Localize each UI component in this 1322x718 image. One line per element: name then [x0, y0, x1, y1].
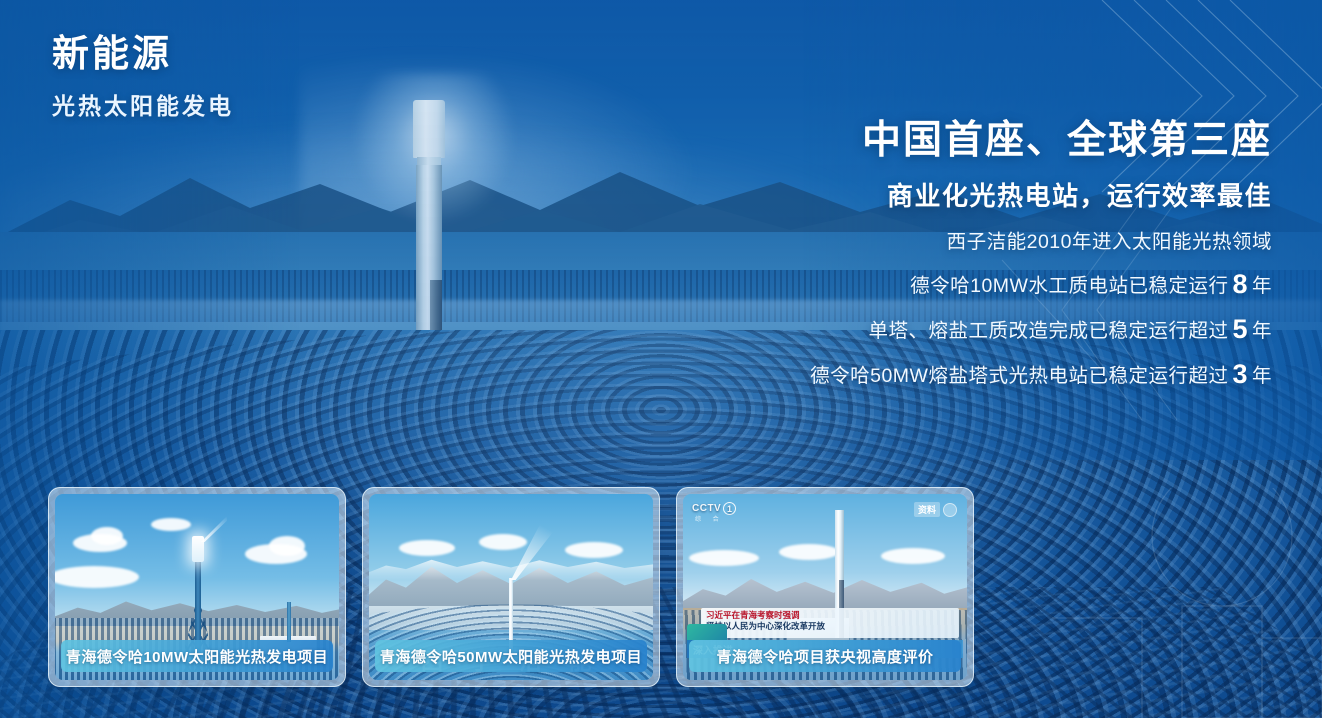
project-card-3[interactable]: CCTV 1 综 合 资料 习近平在青海考察时强调 坚持以人民为中心深化改革开放… — [676, 487, 974, 687]
slide-canvas: 新能源 光热太阳能发电 中国首座、全球第三座 商业化光热电站，运行效率最佳 西子… — [0, 0, 1322, 718]
archive-badge-circle — [943, 503, 957, 517]
project-photo-1: 青海德令哈10MW太阳能光热发电项目 — [55, 494, 339, 680]
archive-badge-label: 资料 — [914, 502, 940, 517]
page-subtitle: 光热太阳能发电 — [52, 87, 234, 121]
cctv-channel-number: 1 — [723, 502, 736, 515]
achievement-number-3: 5 — [1228, 314, 1252, 344]
achievement-text-1: 西子洁能2010年进入太阳能光热领域 — [947, 231, 1272, 253]
achievement-unit-3: 年 — [1252, 320, 1272, 342]
project-photo-2: 西 子 洁 能 青海德令哈50MW太阳能光热发电项目 — [369, 494, 653, 680]
cctv-channel-sub: 综 合 — [695, 514, 724, 523]
headline-secondary: 商业化光热电站，运行效率最佳 — [632, 176, 1272, 213]
achievement-text-4: 德令哈50MW熔盐塔式光热电站已稳定运行超过 — [810, 365, 1228, 387]
left-title-block: 新能源 光热太阳能发电 — [52, 34, 234, 121]
project-caption-2: 青海德令哈50MW太阳能光热发电项目 — [375, 640, 647, 672]
project-caption-1: 青海德令哈10MW太阳能光热发电项目 — [61, 640, 333, 672]
news-headline-line2: 坚持以人民为中心深化改革开放 — [706, 621, 954, 632]
photo1-receiver — [192, 536, 204, 562]
photo1-secondary-tower — [287, 602, 291, 642]
project-caption-3: 青海德令哈项目获央视高度评价 — [689, 640, 961, 672]
news-headline-bar: 习近平在青海考察时强调 坚持以人民为中心深化改革开放 — [701, 608, 959, 638]
achievement-text-2: 德令哈10MW水工质电站已稳定运行 — [910, 275, 1228, 297]
achievement-item-3: 单塔、熔盐工质改造完成已稳定运行超过5年 — [612, 316, 1272, 343]
cctv-channel-label: CCTV — [692, 503, 721, 514]
project-photo-gallery: 青海德令哈10MW太阳能光热发电项目 西 子 洁 能 青海德令哈50MW太阳能光… — [48, 487, 974, 687]
headline-block: 中国首座、全球第三座 商业化光热电站，运行效率最佳 — [632, 118, 1272, 213]
achievement-unit-4: 年 — [1252, 365, 1272, 387]
achievement-item-1: 西子洁能2010年进入太阳能光热领域 — [612, 233, 1272, 253]
project-card-1[interactable]: 青海德令哈10MW太阳能光热发电项目 — [48, 487, 346, 687]
achievement-list: 西子洁能2010年进入太阳能光热领域 德令哈10MW水工质电站已稳定运行8年 单… — [612, 233, 1272, 406]
achievement-number-2: 8 — [1228, 269, 1252, 299]
achievement-item-2: 德令哈10MW水工质电站已稳定运行8年 — [612, 271, 1272, 298]
achievement-number-4: 3 — [1228, 359, 1252, 389]
project-photo-3: CCTV 1 综 合 资料 习近平在青海考察时强调 坚持以人民为中心深化改革开放… — [683, 494, 967, 680]
headline-primary: 中国首座、全球第三座 — [632, 118, 1272, 164]
archive-badge: 资料 — [914, 502, 957, 517]
achievement-text-3: 单塔、熔盐工质改造完成已稳定运行超过 — [868, 320, 1228, 342]
achievement-unit-2: 年 — [1252, 275, 1272, 297]
achievement-item-4: 德令哈50MW熔盐塔式光热电站已稳定运行超过3年 — [612, 361, 1272, 388]
project-card-2[interactable]: 西 子 洁 能 青海德令哈50MW太阳能光热发电项目 — [362, 487, 660, 687]
page-title: 新能源 — [52, 34, 234, 75]
news-headline-line1: 习近平在青海考察时强调 — [706, 610, 954, 621]
geometric-decoration-bottom-right — [1022, 488, 1322, 718]
